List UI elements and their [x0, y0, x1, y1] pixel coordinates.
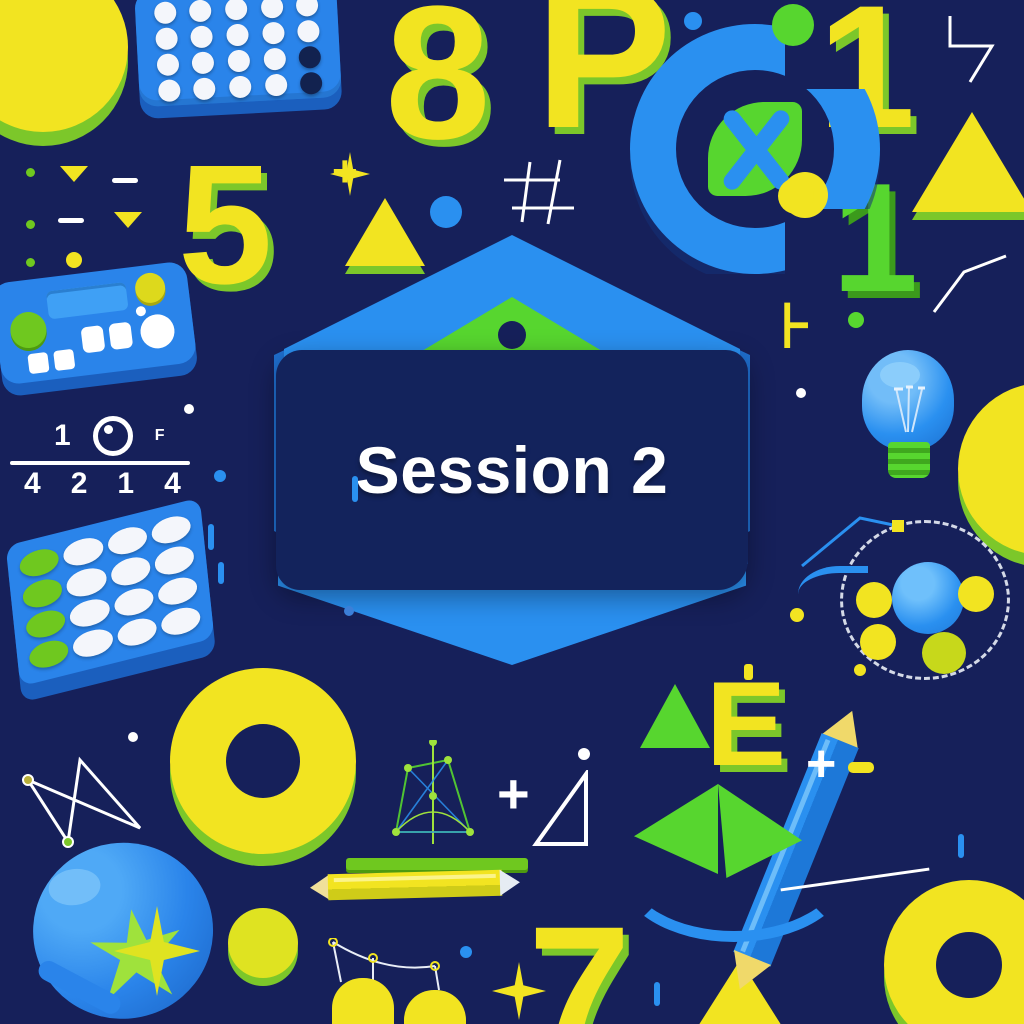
- white-corner-mark: [942, 12, 1002, 92]
- decorative-dash: [352, 476, 358, 502]
- outline-triangle-icon: [530, 770, 592, 852]
- formula-denominator-0: 4: [24, 467, 41, 501]
- white-line-mark: [930, 252, 1010, 322]
- decorative-mini-triangle: [114, 212, 142, 228]
- session-banner: Session 2: [262, 225, 762, 665]
- formula-denominator-2: 1: [117, 467, 134, 501]
- plus-symbol-white: +: [497, 766, 530, 822]
- decorative-dot: [66, 252, 82, 268]
- device-key: [80, 325, 105, 353]
- decorative-triangle-yellow: [912, 112, 1024, 212]
- decorative-dot: [778, 178, 814, 214]
- decorative-dot: [578, 748, 590, 760]
- formula-denominator-3: 4: [164, 467, 181, 501]
- decorative-dash: [58, 218, 84, 223]
- decorative-dot: [460, 946, 472, 958]
- formula-ring-icon: [93, 416, 133, 456]
- device-screen: [46, 282, 129, 320]
- decorative-number-5: 5: [178, 140, 273, 310]
- decorative-dot: [26, 168, 35, 177]
- decorative-dot: [26, 258, 35, 267]
- graph-network-icon: [378, 740, 488, 850]
- device-small-key: [27, 352, 49, 374]
- decorative-number-7: 7: [528, 900, 631, 1024]
- decorative-mini-triangle: [60, 166, 88, 182]
- calculator-top-icon: [134, 0, 342, 107]
- decorative-dash: [218, 562, 224, 584]
- decorative-dot: [854, 664, 866, 676]
- decorative-dash: [208, 524, 214, 550]
- decorative-dot: [796, 388, 806, 398]
- decorative-number-8: 8: [385, 0, 491, 168]
- formula-numerator-f: F: [155, 427, 165, 445]
- bulb-filament-icon: [892, 384, 926, 440]
- ping-pong-paddle-icon: [22, 830, 237, 1024]
- keypad-device-icon: [0, 260, 197, 385]
- decorative-dash: [654, 982, 660, 1006]
- decorative-dot: [684, 12, 702, 30]
- decorative-dash: [112, 178, 138, 183]
- device-green-button: [8, 310, 48, 350]
- decorative-dot: [228, 908, 298, 978]
- decorative-dot: [848, 312, 864, 328]
- decorative-dash: [958, 834, 964, 858]
- plus-symbol-white: +: [806, 738, 836, 790]
- decorative-dot: [26, 220, 35, 229]
- bracket-symbol: ⊦: [780, 296, 812, 358]
- yellow-pencil-icon: [310, 867, 521, 904]
- decorative-letter-e: E: [706, 664, 786, 784]
- calculator-green-icon: [6, 498, 215, 687]
- decorative-dot: [344, 606, 354, 616]
- decorative-dash: [744, 664, 753, 680]
- blue-connector-line: [800, 500, 910, 570]
- decorative-dot: [184, 404, 194, 414]
- decorative-circle-top-left: [0, 0, 128, 132]
- decorative-dot: [128, 732, 138, 742]
- poster-canvas: 1 F 4 2 1 4 8 P 1 1 5 E 7: [0, 0, 1024, 1024]
- session-title-card: Session 2: [276, 350, 748, 590]
- geometry-star-icon: [20, 750, 160, 850]
- decorative-dot: [430, 196, 462, 228]
- formula-denominator-1: 2: [71, 467, 88, 501]
- lightbulb-icon: [862, 350, 958, 490]
- device-key: [108, 322, 133, 350]
- device-small-dot: [135, 306, 146, 317]
- decorative-dot: [214, 470, 226, 482]
- decorative-dot: [772, 4, 814, 46]
- envelope-flap-dot: [498, 321, 526, 349]
- white-zigzag-mark: [500, 152, 600, 232]
- page-title: Session 2: [356, 432, 669, 508]
- formula-numerator-1: 1: [54, 419, 71, 453]
- decorative-dot: [790, 608, 804, 622]
- fraction-formula: 1 F 4 2 1 4: [10, 415, 190, 501]
- device-white-button: [139, 312, 177, 350]
- minus-symbol: [848, 762, 874, 773]
- donut-o-right: [884, 880, 1024, 1024]
- device-small-key: [53, 349, 75, 371]
- donut-o-left: [170, 668, 356, 854]
- formula-bar: [10, 461, 190, 465]
- device-yellow-button: [133, 271, 166, 304]
- green-triangle-icon: [640, 684, 710, 748]
